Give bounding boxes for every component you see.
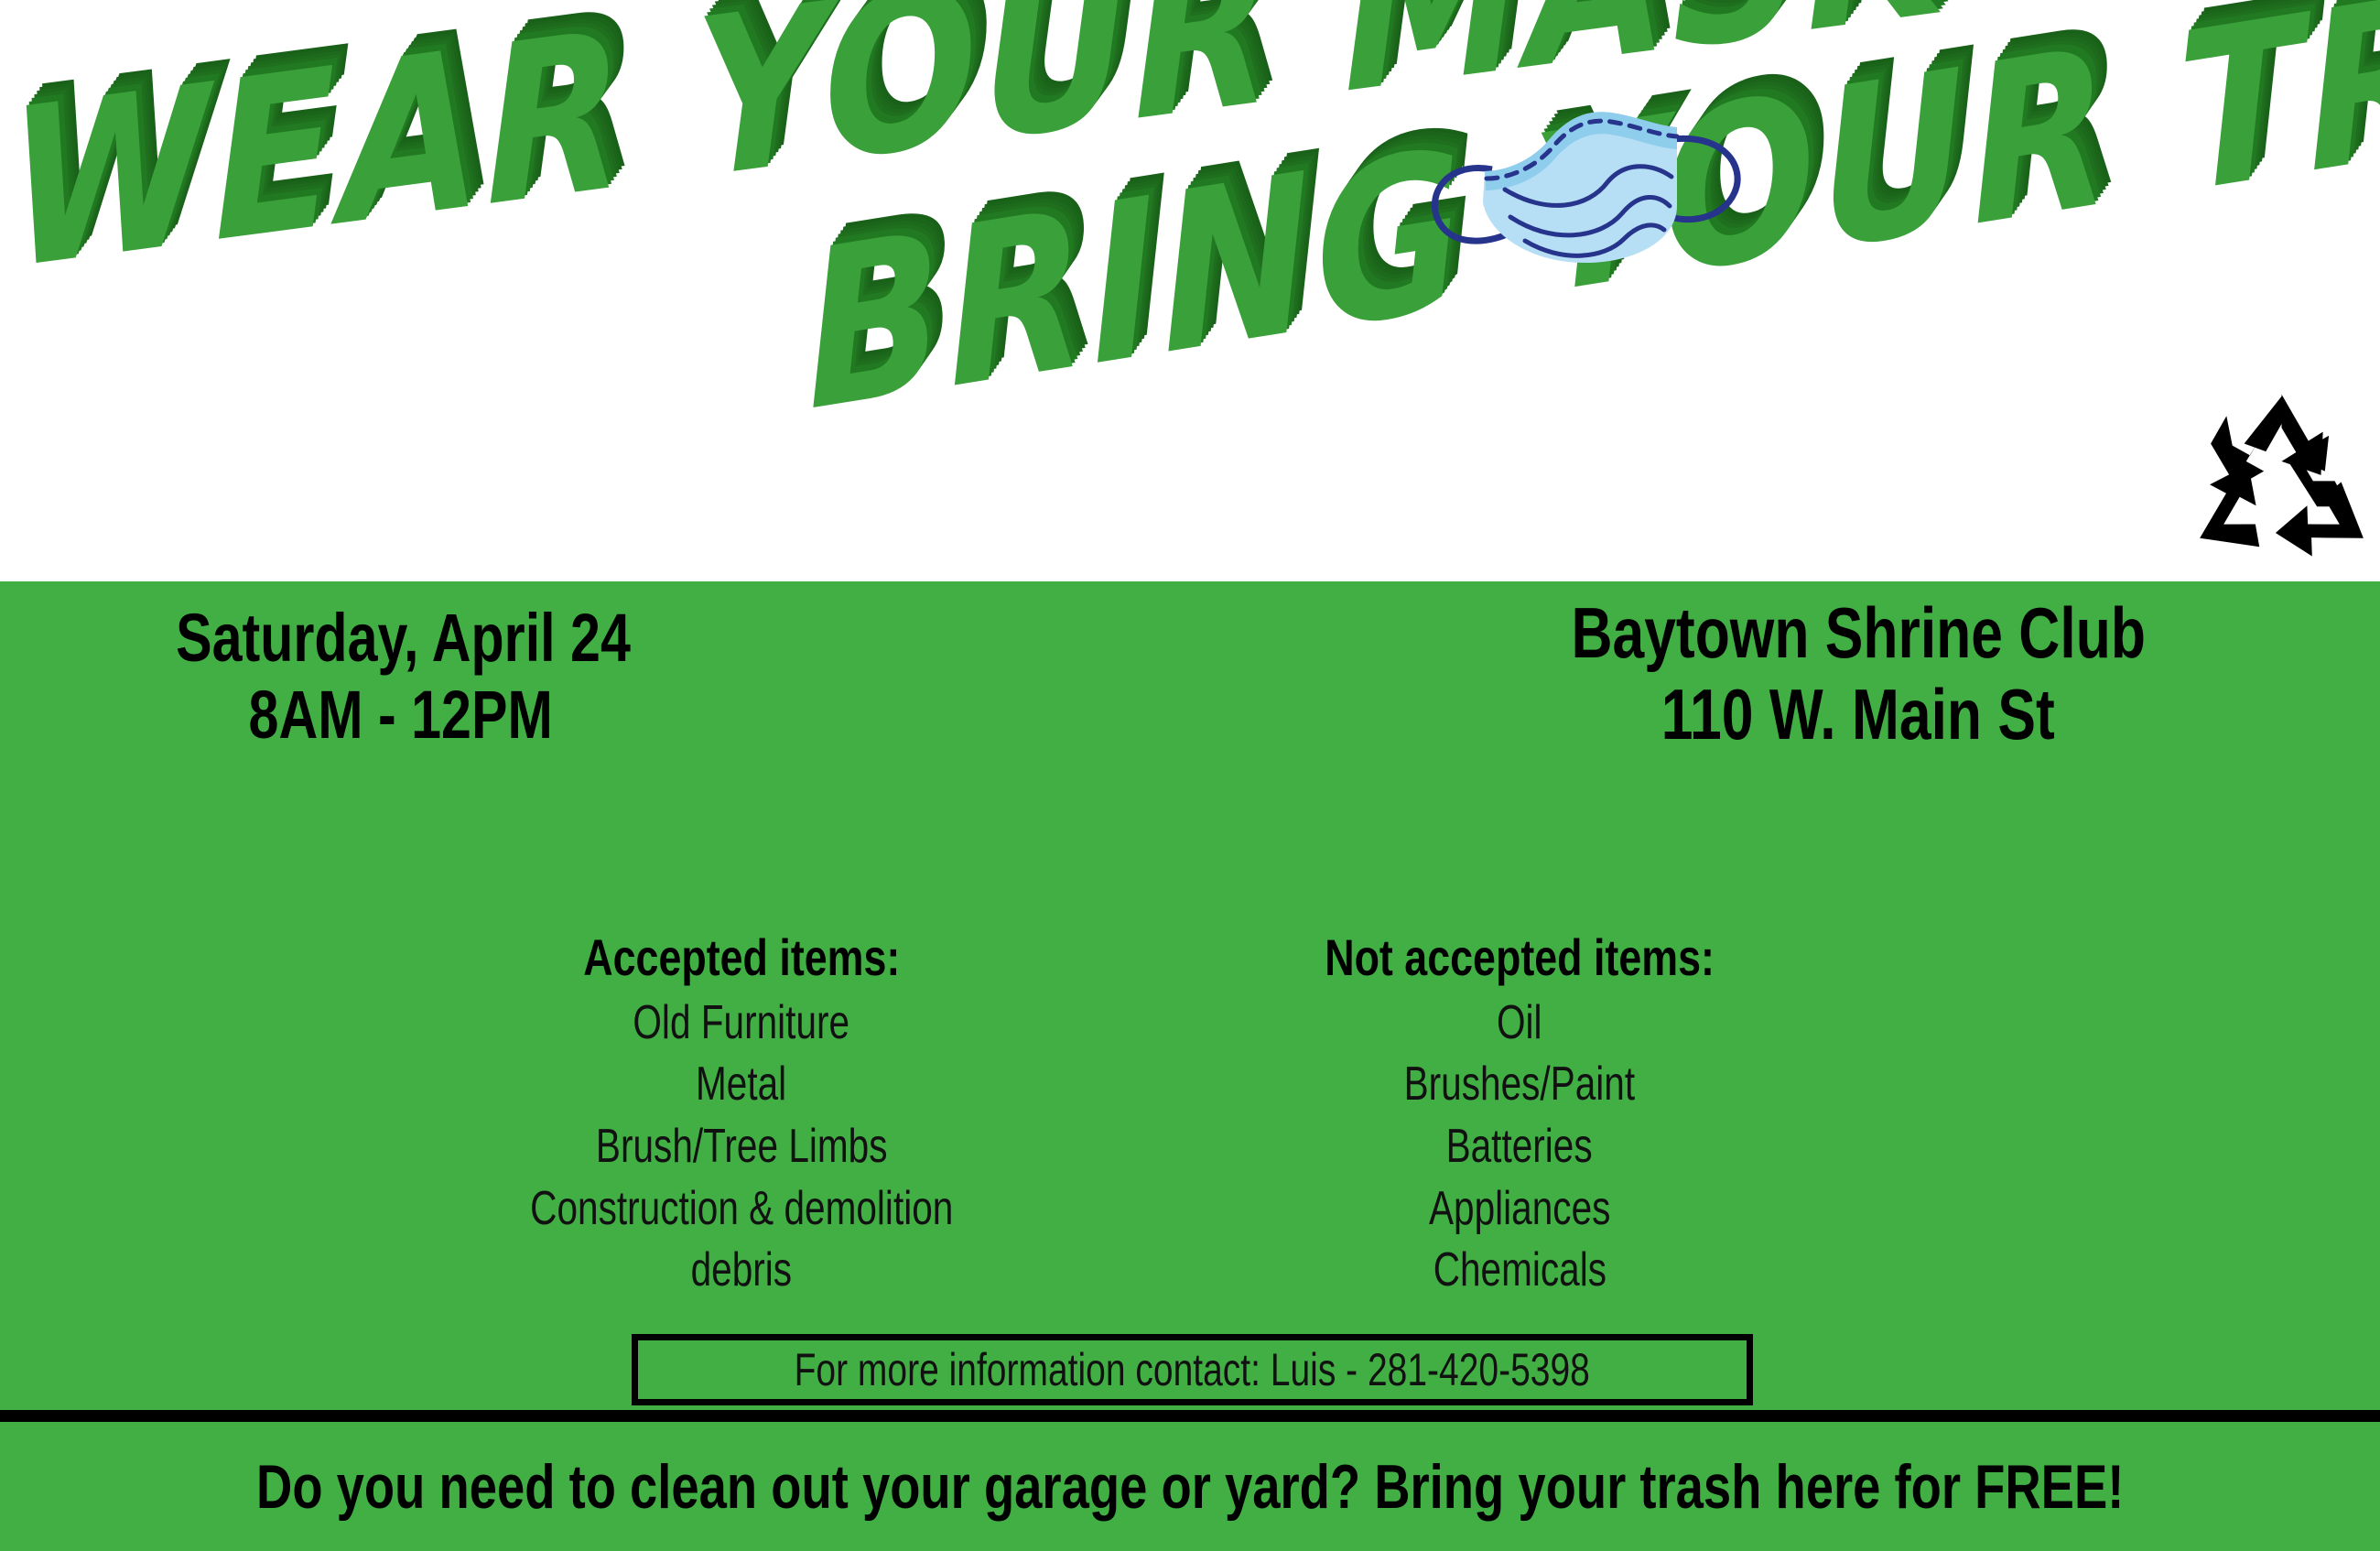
list-item: Brush/Tree Limbs <box>596 1116 888 1178</box>
list-item: Construction & demolition <box>530 1178 953 1241</box>
face-mask-icon <box>1391 69 1758 298</box>
list-item: Chemicals <box>1433 1240 1606 1302</box>
list-item: Old Furniture <box>633 992 850 1055</box>
green-content-panel: Saturday, April 24 8AM - 12PM Baytown Sh… <box>0 581 2380 1551</box>
event-where-block: Baytown Shrine Club 110 W. Main St <box>1401 592 2316 755</box>
bottom-banner-text: Do you need to clean out your garage or … <box>256 1456 2124 1518</box>
recycle-icon <box>2183 380 2380 581</box>
event-when-block: Saturday, April 24 8AM - 12PM <box>55 600 860 754</box>
venue-address: 110 W. Main St <box>1661 674 2055 755</box>
not-accepted-items-title: Not accepted items: <box>1325 929 1715 987</box>
not-accepted-items-column: Not accepted items: Oil Brushes/Paint Ba… <box>1199 929 1840 1302</box>
list-item: Batteries <box>1446 1116 1593 1178</box>
flyer-poster: WEAR YOUR MASK BRING YOUR TRASH! <box>0 0 2380 1551</box>
list-item: Brushes/Paint <box>1404 1054 1636 1116</box>
list-item: debris <box>691 1240 792 1302</box>
list-item: Metal <box>696 1054 786 1116</box>
accepted-items-column: Accepted items: Old Furniture Metal Brus… <box>403 929 1080 1302</box>
item-lists: Accepted items: Old Furniture Metal Brus… <box>0 929 2380 1387</box>
headline-area: WEAR YOUR MASK BRING YOUR TRASH! <box>0 0 2380 581</box>
list-item: Oil <box>1497 992 1542 1055</box>
section-divider <box>0 1410 2380 1422</box>
contact-info-box: For more information contact: Luis - 281… <box>632 1334 1753 1405</box>
event-date: Saturday, April 24 <box>176 600 631 677</box>
bottom-banner: Do you need to clean out your garage or … <box>0 1422 2380 1551</box>
list-item: Appliances <box>1429 1178 1610 1241</box>
venue-name: Baytown Shrine Club <box>1571 592 2146 674</box>
accepted-items-title: Accepted items: <box>583 929 900 987</box>
contact-info-text: For more information contact: Luis - 281… <box>795 1347 1590 1393</box>
event-time: 8AM - 12PM <box>249 677 553 754</box>
